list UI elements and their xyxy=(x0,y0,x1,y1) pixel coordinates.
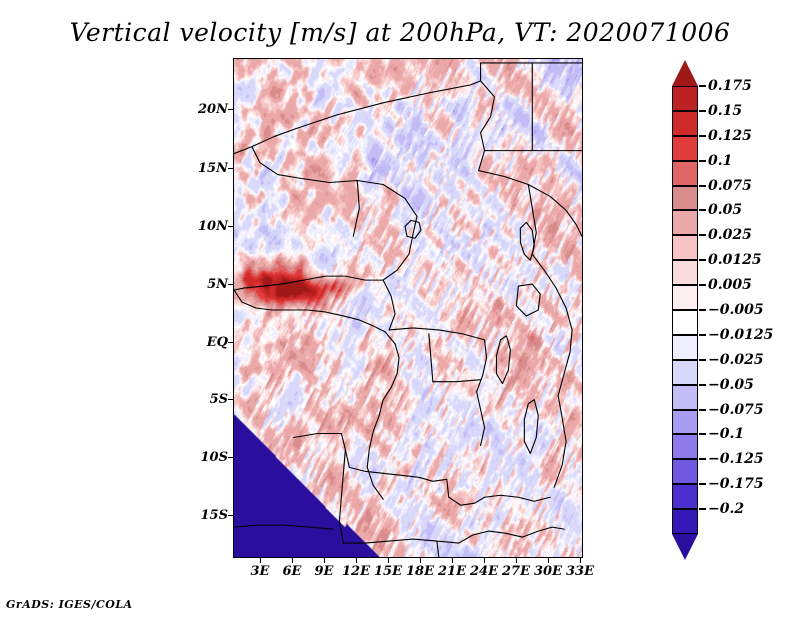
grads-credit: GrADS: IGES/COLA xyxy=(6,598,133,611)
colorbar-tick xyxy=(699,458,706,460)
xtick-mark-27e xyxy=(516,558,517,563)
colorbar-tick xyxy=(699,185,706,187)
colorbar-tick xyxy=(699,259,706,261)
colorbar-swatch xyxy=(672,484,698,509)
colorbar-tick xyxy=(699,160,706,162)
colorbar-swatch xyxy=(672,161,698,186)
colorbar-tick xyxy=(699,110,706,112)
xtick-mark-6e xyxy=(292,558,293,563)
colorbar-tick xyxy=(699,359,706,361)
xtick-mark-3e xyxy=(260,558,261,563)
ytick-mark-15s xyxy=(228,515,233,516)
colorbar-label: 0.175 xyxy=(708,78,752,94)
xtick-label-33e: 33E xyxy=(564,564,596,579)
colorbar-label: −0.1 xyxy=(708,426,744,442)
colorbar-tick xyxy=(699,309,706,311)
colorbar-tick xyxy=(699,483,706,485)
colorbar-swatch xyxy=(672,410,698,435)
ytick-mark-10n xyxy=(228,226,233,227)
colorbar-label: −0.025 xyxy=(708,352,764,368)
colorbar-label: −0.125 xyxy=(708,451,764,467)
colorbar-label: 0.075 xyxy=(708,178,752,194)
xtick-mark-30e xyxy=(548,558,549,563)
colorbar-tick xyxy=(699,384,706,386)
ytick-label-20n: 20N xyxy=(196,102,228,117)
colorbar-label: −0.005 xyxy=(708,302,764,318)
xtick-label-24e: 24E xyxy=(468,564,500,579)
colorbar-tick xyxy=(699,508,706,510)
colorbar-tick xyxy=(699,234,706,236)
colorbar-label: −0.2 xyxy=(708,501,744,517)
colorbar-label: 0.125 xyxy=(708,128,752,144)
colorbar-label: 0.05 xyxy=(708,202,742,218)
colorbar-swatch xyxy=(672,335,698,360)
ytick-mark-10s xyxy=(228,457,233,458)
ytick-label-15n: 15N xyxy=(196,161,228,176)
colorbar-tick xyxy=(699,135,706,137)
colorbar-label: −0.075 xyxy=(708,402,764,418)
colorbar-label: −0.0125 xyxy=(708,327,773,343)
colorbar: 0.1750.150.1250.10.0750.050.0250.01250.0… xyxy=(672,60,800,560)
colorbar-tick xyxy=(699,209,706,211)
colorbar-swatch xyxy=(672,136,698,161)
xtick-mark-18e xyxy=(420,558,421,563)
xtick-mark-15e xyxy=(388,558,389,563)
map-plot-area xyxy=(233,58,583,558)
colorbar-swatch xyxy=(672,509,698,534)
ytick-label-5n: 5N xyxy=(196,277,228,292)
xtick-label-21e: 21E xyxy=(436,564,468,579)
colorbar-swatch xyxy=(672,310,698,335)
page-title: Vertical velocity [m/s] at 200hPa, VT: 2… xyxy=(0,18,800,47)
colorbar-swatch xyxy=(672,86,698,111)
xtick-mark-21e xyxy=(452,558,453,563)
ytick-mark-15n xyxy=(228,168,233,169)
ytick-mark-5n xyxy=(228,284,233,285)
colorbar-label: 0.15 xyxy=(708,103,742,119)
ytick-mark-eq xyxy=(228,342,233,343)
colorbar-label: 0.0125 xyxy=(708,252,762,268)
colorbar-label: −0.05 xyxy=(708,377,754,393)
colorbar-arrow-bottom xyxy=(672,534,698,560)
colorbar-tick xyxy=(699,284,706,286)
colorbar-swatch xyxy=(672,235,698,260)
colorbar-tick xyxy=(699,433,706,435)
xtick-label-27e: 27E xyxy=(500,564,532,579)
ytick-label-5s: 5S xyxy=(196,392,228,407)
colorbar-label: −0.175 xyxy=(708,476,764,492)
xtick-label-30e: 30E xyxy=(532,564,564,579)
colorbar-swatch xyxy=(672,186,698,211)
xtick-mark-24e xyxy=(484,558,485,563)
ytick-mark-20n xyxy=(228,109,233,110)
colorbar-swatch xyxy=(672,210,698,235)
colorbar-tick xyxy=(699,334,706,336)
colorbar-swatch xyxy=(672,385,698,410)
xtick-label-18e: 18E xyxy=(404,564,436,579)
xtick-mark-12e xyxy=(356,558,357,563)
country-borders-overlay xyxy=(234,59,582,557)
xtick-label-15e: 15E xyxy=(372,564,404,579)
xtick-mark-33e xyxy=(580,558,581,563)
xtick-label-12e: 12E xyxy=(340,564,372,579)
colorbar-label: 0.025 xyxy=(708,227,752,243)
colorbar-swatch xyxy=(672,285,698,310)
ytick-label-10s: 10S xyxy=(196,450,228,465)
xtick-mark-9e xyxy=(324,558,325,563)
ytick-label-10n: 10N xyxy=(196,219,228,234)
colorbar-swatch xyxy=(672,360,698,385)
colorbar-tick xyxy=(699,409,706,411)
colorbar-tick xyxy=(699,85,706,87)
colorbar-swatch xyxy=(672,260,698,285)
ytick-mark-5s xyxy=(228,399,233,400)
xtick-label-6e: 6E xyxy=(276,564,308,579)
colorbar-label: 0.1 xyxy=(708,153,732,169)
xtick-label-3e: 3E xyxy=(244,564,276,579)
colorbar-swatch xyxy=(672,459,698,484)
xtick-label-9e: 9E xyxy=(308,564,340,579)
colorbar-swatch xyxy=(672,111,698,136)
colorbar-label: 0.005 xyxy=(708,277,752,293)
colorbar-arrow-top xyxy=(672,60,698,86)
colorbar-swatch xyxy=(672,434,698,459)
ytick-label-eq: EQ xyxy=(196,335,228,350)
ytick-label-15s: 15S xyxy=(196,508,228,523)
